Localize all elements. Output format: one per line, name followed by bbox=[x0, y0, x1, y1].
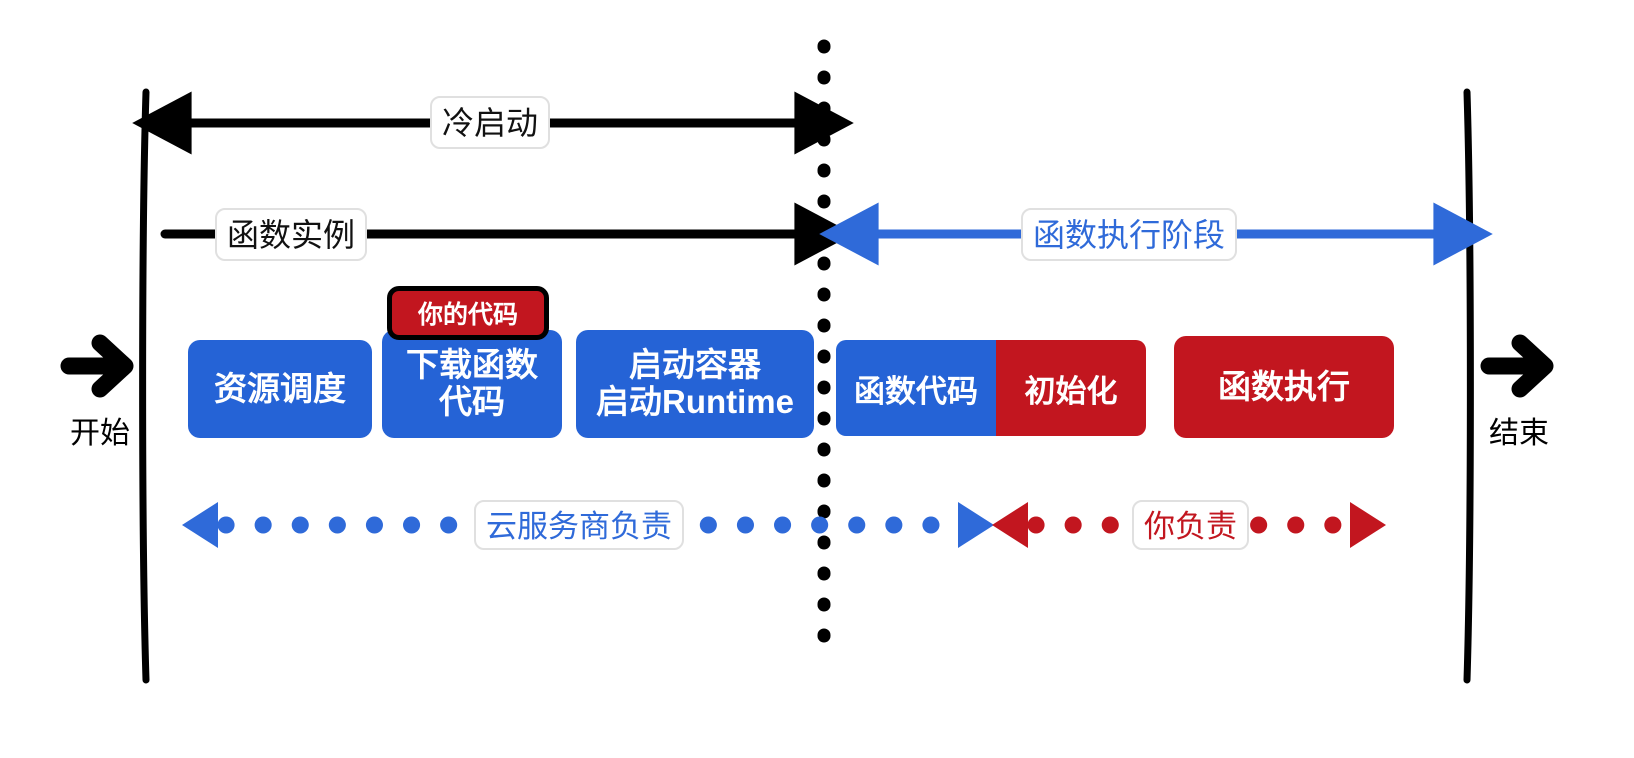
start-label: 开始 bbox=[55, 408, 145, 452]
stage-box-start-container-runtime[interactable]: 启动容器 启动Runtime bbox=[576, 330, 814, 438]
your-responsibility-arrow-label-text: 你负责 bbox=[1144, 501, 1237, 546]
function-instance-arrow-label-text: 函数实例 bbox=[227, 210, 355, 256]
stage-label-start-container-runtime-line1: 启动容器 bbox=[629, 347, 761, 384]
end-boundary-line bbox=[1464, 88, 1465, 682]
stage-part-function-code-label: 函数代码 bbox=[854, 366, 978, 411]
stage-label-resource-scheduling: 资源调度 bbox=[214, 371, 346, 408]
end-label: 结束 bbox=[1474, 408, 1564, 452]
stage-label-function-execution: 函数执行 bbox=[1218, 369, 1350, 406]
cold-start-arrow-label: 冷启动 bbox=[430, 96, 550, 149]
cloud-provider-responsibility-arrow-label: 云服务商负责 bbox=[474, 500, 684, 550]
stage-label-download-function-code-line1: 下载函数 bbox=[406, 347, 538, 384]
stage-part-function-code[interactable]: 函数代码 bbox=[836, 340, 996, 436]
diagram-canvas: 开始 结束 冷启动 bbox=[0, 0, 1634, 758]
callout-your-code-label: 你的代码 bbox=[418, 295, 518, 331]
stage-part-initialization[interactable]: 初始化 bbox=[996, 340, 1146, 436]
end-arrow-icon bbox=[1480, 330, 1558, 402]
stage-box-function-execution[interactable]: 函数执行 bbox=[1174, 336, 1394, 438]
start-arrow-icon bbox=[60, 330, 138, 402]
cold-start-arrow-label-text: 冷启动 bbox=[442, 98, 538, 144]
function-instance-arrow-label: 函数实例 bbox=[215, 208, 367, 261]
stage-box-download-function-code[interactable]: 下载函数 代码 bbox=[382, 330, 562, 438]
stage-box-resource-scheduling[interactable]: 资源调度 bbox=[188, 340, 372, 438]
stage-box-function-code-init[interactable]: 函数代码 初始化 bbox=[836, 340, 1146, 436]
stage-label-download-function-code-line2: 代码 bbox=[439, 384, 505, 421]
stage-label-start-container-runtime-line2: 启动Runtime bbox=[596, 384, 794, 421]
function-execution-phase-arrow-label-text: 函数执行阶段 bbox=[1033, 210, 1225, 256]
function-execution-phase-arrow-label: 函数执行阶段 bbox=[1021, 208, 1237, 261]
callout-your-code[interactable]: 你的代码 bbox=[387, 286, 549, 340]
stage-part-initialization-label: 初始化 bbox=[1025, 366, 1118, 411]
start-boundary-line bbox=[145, 88, 146, 682]
your-responsibility-arrow-label: 你负责 bbox=[1132, 500, 1249, 550]
cloud-provider-responsibility-arrow-label-text: 云服务商负责 bbox=[486, 501, 672, 546]
